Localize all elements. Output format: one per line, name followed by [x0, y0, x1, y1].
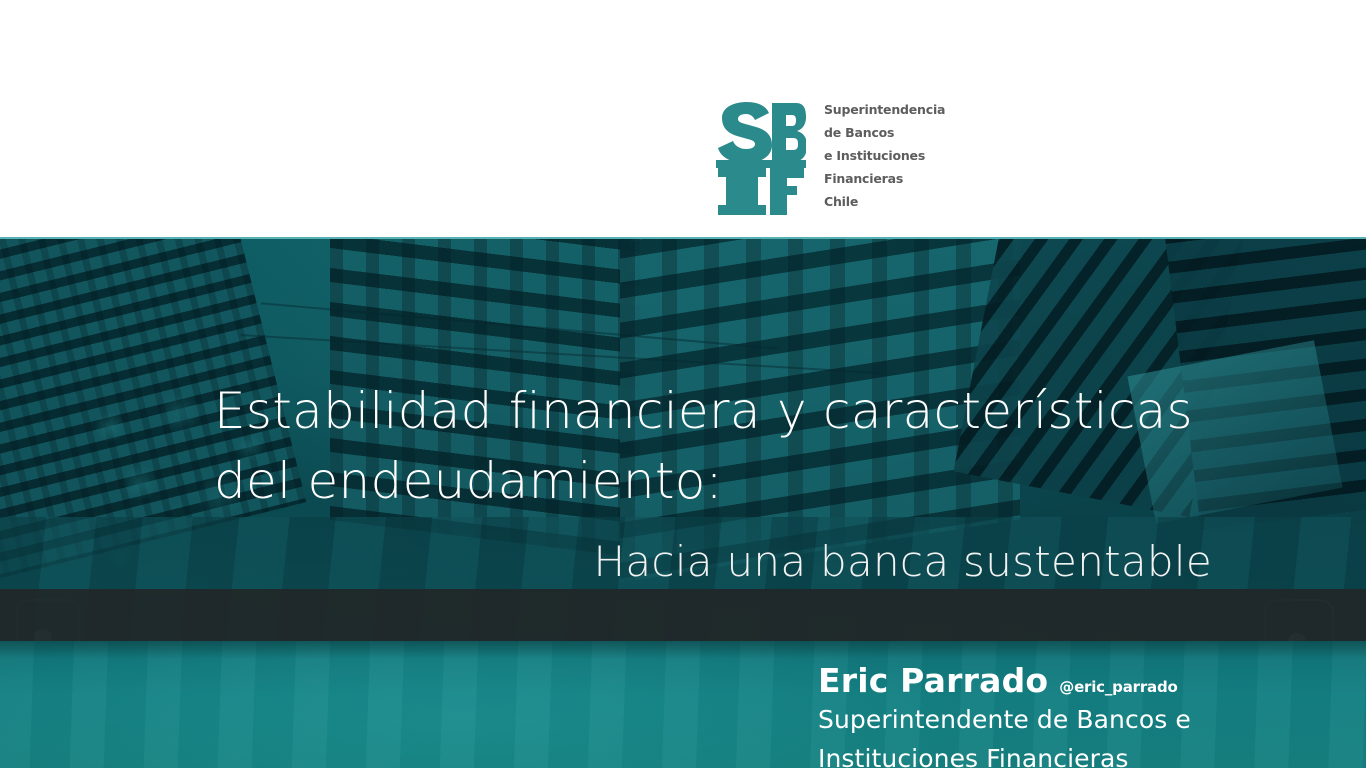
slide-subtitle: Hacia una banca sustentable [214, 536, 1324, 588]
slide-header: Superintendencia de Bancos e Institucion… [0, 0, 1366, 237]
presenter-twitter-handle: @eric_parrado [1059, 680, 1177, 695]
logo-line-3: e Instituciones [824, 150, 945, 173]
presenter-role-line-1: Superintendente de Bancos e [818, 703, 1191, 736]
logo-line-2: de Bancos [824, 127, 945, 150]
hairline-divider [0, 237, 1366, 239]
presenter-name: Eric Parrado [818, 664, 1048, 697]
title-line-2: del endeudamiento: [214, 446, 1324, 516]
title-slide: Superintendencia de Bancos e Institucion… [0, 0, 1366, 768]
logo-line-5: Chile [824, 196, 945, 219]
slide-title-block: Estabilidad financiera y características… [214, 376, 1324, 588]
presenter-nameline: Eric Parrado @eric_parrado [818, 664, 1191, 697]
title-line-1: Estabilidad financiera y características [214, 376, 1324, 446]
presenter-band-shadow [0, 641, 1366, 659]
sbif-logo: Superintendencia de Bancos e Institucion… [714, 100, 945, 219]
sbif-logo-wordmark: Superintendencia de Bancos e Institucion… [824, 104, 945, 219]
logo-line-4: Financieras [824, 173, 945, 196]
sbif-logo-icon [714, 100, 806, 216]
presenter-role-line-2: Instituciones Financieras [818, 742, 1191, 768]
logo-line-1: Superintendencia [824, 104, 945, 127]
presenter-block: Eric Parrado @eric_parrado Superintenden… [818, 664, 1191, 768]
